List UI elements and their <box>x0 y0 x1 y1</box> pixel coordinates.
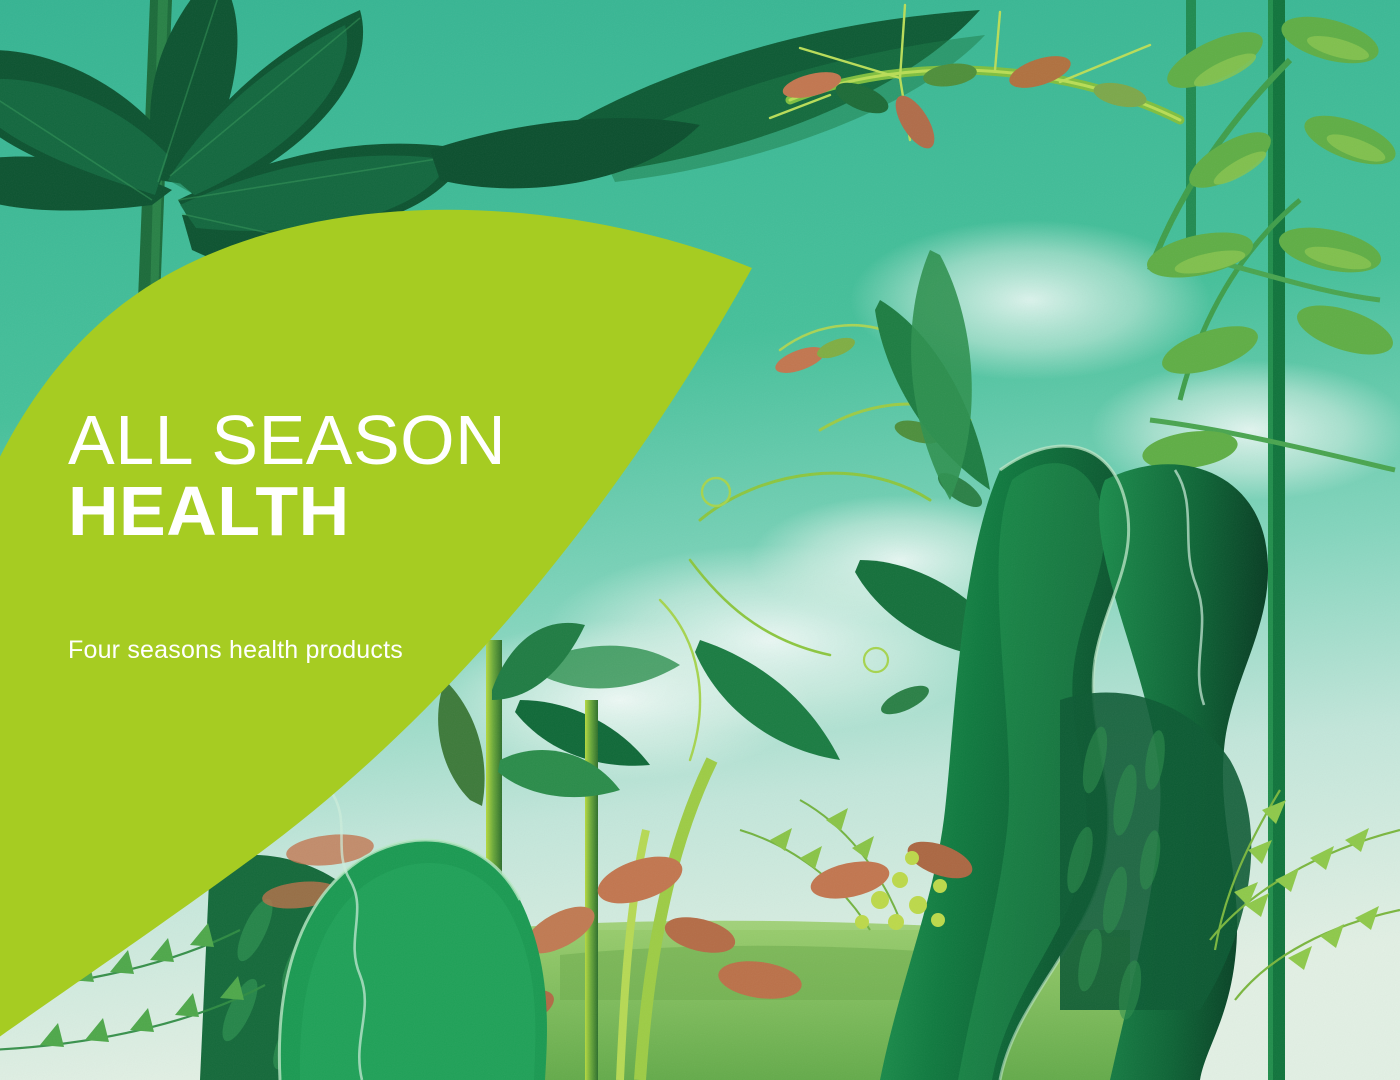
lime-leaf-shape-overlay <box>0 0 1400 1080</box>
lime-leaf-shape <box>0 210 752 1080</box>
banner-canvas: ALL SEASON HEALTH Four seasons health pr… <box>0 0 1400 1080</box>
